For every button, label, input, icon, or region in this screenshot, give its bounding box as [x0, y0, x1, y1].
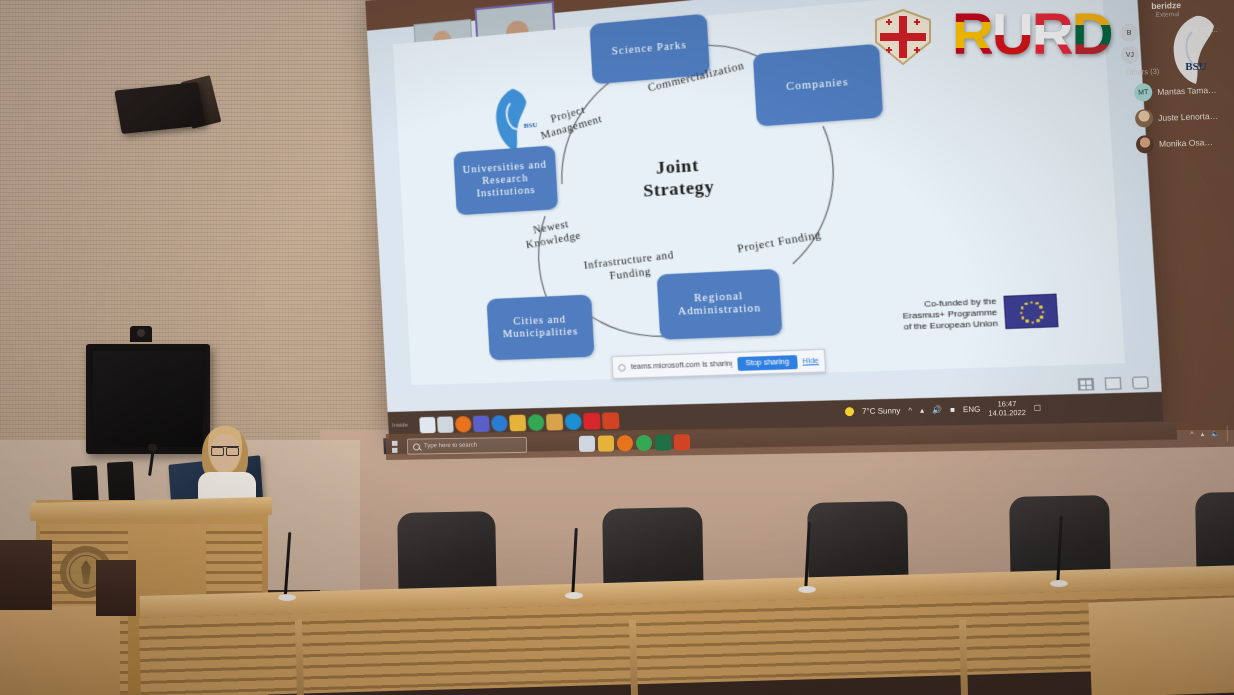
avatar	[1136, 135, 1155, 154]
roster-participant-name: Mantas Tama…	[1157, 85, 1217, 97]
weather-text[interactable]: 7°C Sunny	[862, 406, 900, 416]
rurd-letter-r1: R	[952, 6, 992, 64]
photos-icon[interactable]	[598, 435, 614, 451]
eu-star-icon	[1041, 311, 1044, 314]
rurd-letter-r2: R	[1032, 6, 1072, 64]
acrobat-reader-icon[interactable]	[583, 413, 601, 430]
eu-star-icon	[1020, 311, 1023, 314]
rurd-letter-u: U	[992, 6, 1032, 64]
georgia-emblem-icon	[872, 8, 934, 66]
desk-microphone-base-1	[278, 594, 296, 601]
node-cities[interactable]: Cities and Municipalities	[486, 294, 594, 360]
node-regional-administration[interactable]: Regional Administration	[657, 269, 783, 340]
stop-sharing-button[interactable]: Stop sharing	[737, 355, 797, 371]
powerpoint-taskbar-icon[interactable]	[674, 434, 690, 450]
edge-icon[interactable]	[491, 415, 508, 432]
roster-others-label: Others (3)	[1125, 67, 1159, 77]
avatar	[1135, 109, 1154, 128]
system-tray: 7°C Sunny ^ ▴ 🔊 ■ ENG 16:47 14.01.2022 ☐	[845, 394, 1095, 424]
roster-participant-2[interactable]: Juste Lenorta…	[1135, 107, 1219, 128]
chrome-icon[interactable]	[636, 435, 652, 451]
wall-monitor-screen	[93, 351, 203, 447]
podium-microphone-head	[148, 444, 157, 451]
language-indicator[interactable]: ENG	[963, 404, 980, 413]
ceiling-speaker	[114, 82, 205, 134]
desk-microphone-base-4	[1050, 580, 1068, 587]
podium-speaker-right	[107, 461, 135, 504]
file-explorer-icon[interactable]	[509, 415, 526, 432]
network-icon[interactable]: ▴	[920, 405, 924, 414]
network-icon[interactable]: ▴	[1201, 430, 1205, 438]
eu-star-icon	[1040, 316, 1043, 319]
teams-icon[interactable]	[473, 416, 490, 433]
eu-star-icon	[1040, 306, 1043, 309]
powerpoint-taskbar-icon[interactable]	[602, 412, 620, 429]
eu-star-icon	[1025, 302, 1028, 305]
eu-star-icon	[1035, 302, 1038, 305]
taskbar-overflow-label: Inside	[392, 422, 418, 429]
skype-icon[interactable]	[564, 413, 582, 430]
excel-icon[interactable]	[655, 435, 671, 451]
erasmus-funding-block: Co-funded by the Erasmus+ Programme of t…	[888, 284, 1069, 342]
roster-participant-name: Juste Lenorta…	[1158, 111, 1218, 123]
desk-microphone-base-2	[565, 592, 583, 599]
tray-divider	[1227, 426, 1228, 442]
eu-star-icon	[1030, 301, 1033, 304]
eu-flag-icon	[1003, 294, 1058, 330]
clock-date: 14.01.2022	[988, 408, 1026, 418]
node-companies[interactable]: Companies	[753, 44, 883, 127]
roster-others-row[interactable]: Others (3)	[1125, 67, 1159, 77]
svg-text:BSU: BSU	[1185, 61, 1206, 73]
tray-physical: ^ ▴ 🔈	[1190, 421, 1234, 448]
avatar: MT	[1134, 83, 1153, 102]
eu-star-icon	[1036, 319, 1039, 322]
bsu-head-logo-icon: BSU	[1166, 14, 1224, 86]
roster-header-name: beridze	[1151, 0, 1181, 11]
volume-icon[interactable]: 🔈	[1211, 430, 1220, 438]
photos-icon[interactable]	[546, 414, 563, 431]
file-explorer-icon[interactable]	[579, 436, 595, 452]
rurd-logo: R U R D	[952, 6, 1112, 64]
search-icon	[413, 443, 420, 450]
camera-lens-icon	[137, 329, 145, 337]
rurd-letter-d: D	[1072, 6, 1112, 64]
weather-sun-icon	[845, 407, 854, 416]
clock[interactable]: 16:47 14.01.2022	[988, 399, 1026, 418]
roster-header-row[interactable]: beridze	[1151, 0, 1181, 11]
search-input[interactable]: Type here to search	[407, 437, 527, 455]
volume-icon[interactable]: 🔊	[932, 405, 942, 414]
firefox-icon[interactable]	[455, 416, 472, 433]
node-universities[interactable]: Universities and Research Institutions	[453, 145, 558, 215]
roster-participant-name: Monika Osa…	[1159, 137, 1213, 149]
desk-microphone-base-3	[798, 586, 816, 593]
avatar: B	[1120, 24, 1139, 43]
eu-star-icon	[1021, 306, 1024, 309]
lecture-hall-scene: 00:58:50 PowerPoint Slide Show - [01-05]…	[0, 0, 1234, 695]
share-message: teams.microsoft.com is sharing your scre…	[631, 360, 733, 371]
chrome-icon[interactable]	[527, 414, 544, 431]
eu-star-icon	[1026, 320, 1029, 323]
wall-monitor	[86, 344, 210, 454]
avatar: VJ	[1121, 46, 1140, 65]
share-status-icon	[618, 363, 626, 371]
chevron-up-icon[interactable]: ^	[908, 406, 912, 415]
roster-participant-3[interactable]: Monika Osa…	[1136, 133, 1213, 154]
glasses-icon	[211, 446, 239, 453]
task-view-icon[interactable]	[437, 416, 454, 433]
erasmus-funding-text: Co-funded by the Erasmus+ Programme of t…	[888, 296, 998, 333]
battery-icon[interactable]: ■	[950, 405, 955, 414]
hide-share-bar-link[interactable]: Hide	[802, 357, 819, 365]
slide-sorter-icon[interactable]	[1105, 376, 1122, 389]
doorway-left-2	[96, 560, 136, 616]
roster-muted-avatar-1[interactable]: B	[1120, 24, 1139, 43]
chevron-up-icon[interactable]: ^	[1190, 431, 1193, 438]
eu-star-icon	[1031, 321, 1034, 324]
start-button-icon[interactable]	[392, 441, 404, 453]
action-center-icon[interactable]: ☐	[1034, 403, 1041, 412]
side-desk-left	[0, 606, 120, 695]
search-placeholder: Type here to search	[424, 443, 477, 450]
slide-center-title: Joint Strategy	[608, 151, 750, 204]
side-desk-right	[1088, 597, 1234, 695]
start-button-icon[interactable]	[419, 417, 436, 434]
projection-screen: 00:58:50 PowerPoint Slide Show - [01-05]…	[365, 0, 1234, 470]
normal-view-icon[interactable]	[1078, 377, 1095, 390]
doorway-left	[0, 540, 52, 610]
eu-star-icon	[1021, 316, 1024, 319]
roster-muted-avatar-2[interactable]: VJ	[1121, 46, 1140, 65]
firefox-icon[interactable]	[617, 435, 633, 451]
reading-view-icon[interactable]	[1132, 376, 1149, 389]
